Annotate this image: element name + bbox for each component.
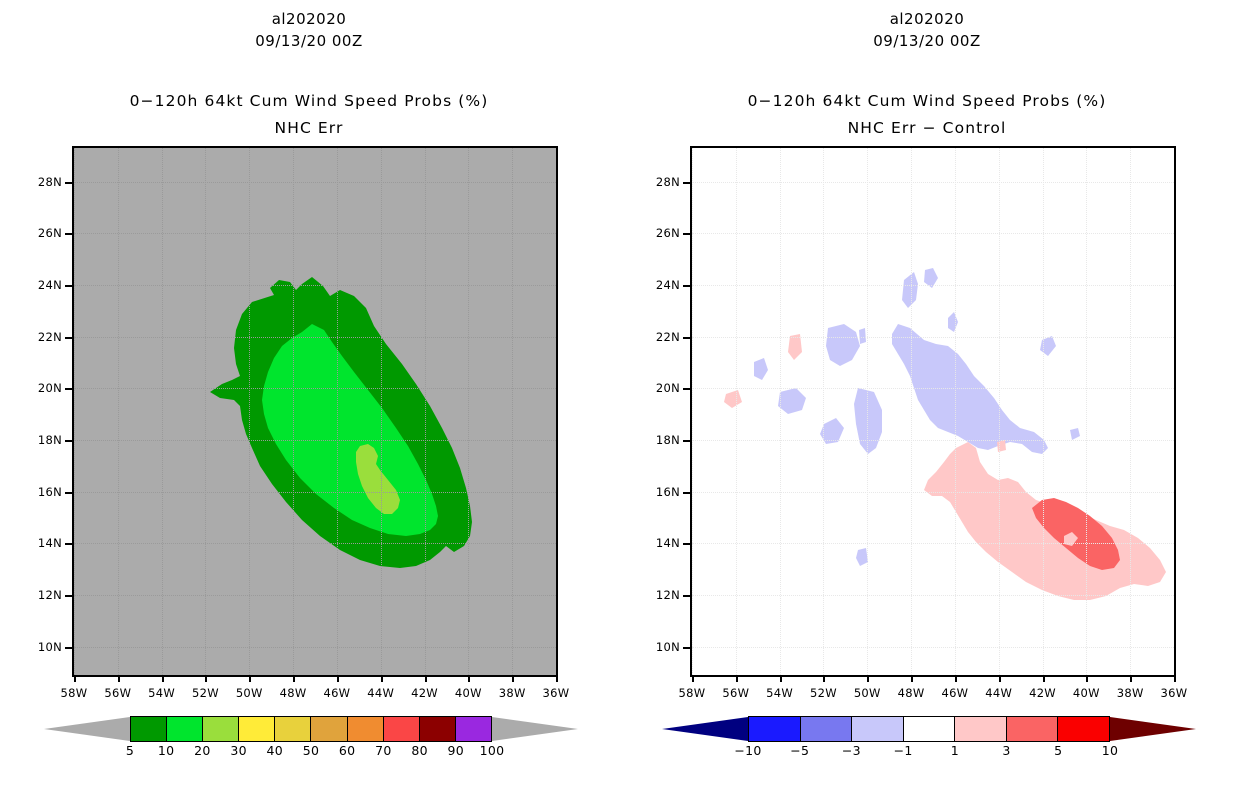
panel-storm-id: al202020 [0, 10, 618, 28]
xtick-label: 54W [766, 686, 793, 700]
gridline-horizontal [74, 492, 556, 493]
gridline-vertical [512, 148, 513, 675]
colorbar-tick-label: −5 [790, 743, 809, 758]
colorbar-swatch [749, 717, 801, 741]
colorbar-swatch [311, 717, 347, 741]
xtick-label: 56W [722, 686, 749, 700]
colorbar-swatch [852, 717, 904, 741]
xtick-label: 50W [236, 686, 263, 700]
colorbar-tick-label: 20 [194, 743, 211, 758]
gridline-vertical [468, 148, 469, 675]
colorbar-swatch [167, 717, 203, 741]
gridline-vertical [1130, 148, 1131, 675]
colorbar-tick-label: 10 [1102, 743, 1119, 758]
ytick-label: 12N [38, 588, 62, 602]
xtick-label: 52W [192, 686, 219, 700]
ytick-label: 22N [38, 330, 62, 344]
ytick-label: 20N [38, 381, 62, 395]
gridline-horizontal [74, 543, 556, 544]
panel-nhc-err: al202020 09/13/20 00Z 0−120h 64kt Cum Wi… [0, 0, 618, 800]
colorbar-swatches [748, 716, 1110, 742]
colorbar-swatch [1007, 717, 1059, 741]
colorbar-under-arrow-icon [44, 716, 130, 742]
panel-title: 0−120h 64kt Cum Wind Speed Probs (%) [0, 92, 618, 110]
gridline-vertical [692, 148, 693, 675]
colorbar-tick-label: 60 [339, 743, 356, 758]
gridline-vertical [381, 148, 382, 675]
gridline-horizontal [74, 285, 556, 286]
xtick-label: 38W [1117, 686, 1144, 700]
colorbar-under-arrow-icon [662, 716, 748, 742]
gridline-vertical [1086, 148, 1087, 675]
ytick-label: 16N [38, 485, 62, 499]
gridline-horizontal [74, 388, 556, 389]
colorbar-swatch [1058, 717, 1109, 741]
ytick-label: 14N [38, 536, 62, 550]
gridline-horizontal [74, 647, 556, 648]
gridline-horizontal [692, 337, 1174, 338]
colorbar-swatch [904, 717, 956, 741]
ytick-label: 22N [656, 330, 680, 344]
colorbar-tick-label: 90 [448, 743, 465, 758]
xtick-label: 44W [985, 686, 1012, 700]
colorbar-swatch [801, 717, 853, 741]
ytick-label: 14N [656, 536, 680, 550]
ytick-label: 24N [656, 278, 680, 292]
gridline-vertical [736, 148, 737, 675]
gridline-horizontal [74, 233, 556, 234]
xtick-label: 36W [1161, 686, 1188, 700]
gridline-vertical [293, 148, 294, 675]
xtick-label: 46W [941, 686, 968, 700]
ytick-label: 10N [656, 640, 680, 654]
gridline-vertical [867, 148, 868, 675]
xtick-label: 52W [810, 686, 837, 700]
xtick-label: 48W [898, 686, 925, 700]
ytick-label: 28N [656, 175, 680, 189]
colorbar-tick-label: −1 [894, 743, 913, 758]
xtick-label: 50W [854, 686, 881, 700]
ytick-label: 28N [38, 175, 62, 189]
colorbar-swatch [384, 717, 420, 741]
anomaly-contour-svg [692, 148, 1174, 675]
panel-subtitle: NHC Err − Control [618, 119, 1236, 137]
colorbar-tick-label: 100 [480, 743, 505, 758]
gridline-vertical [1043, 148, 1044, 675]
colorbar-swatch [348, 717, 384, 741]
map-axes-anomaly: 28N 26N 24N 22N 20N 18N 16N 14N 12N 10N … [690, 146, 1176, 677]
gridline-vertical [205, 148, 206, 675]
colorbar-tick-label: 50 [303, 743, 320, 758]
gridline-vertical [74, 148, 75, 675]
colorbar-probability: 5 10 20 30 40 50 60 70 80 90 100 [44, 716, 574, 762]
colorbar-tick-label: 30 [230, 743, 247, 758]
gridline-horizontal [74, 337, 556, 338]
colorbar-swatch [239, 717, 275, 741]
xtick-label: 54W [148, 686, 175, 700]
probability-contour-svg [74, 148, 556, 675]
gridline-vertical [249, 148, 250, 675]
panel-title: 0−120h 64kt Cum Wind Speed Probs (%) [618, 92, 1236, 110]
colorbar-swatches [130, 716, 492, 742]
gridline-vertical [118, 148, 119, 675]
gridline-horizontal [692, 388, 1174, 389]
gridline-horizontal [74, 440, 556, 441]
colorbar-over-arrow-icon [1110, 716, 1196, 742]
colorbar-tick-labels: 5 10 20 30 40 50 60 70 80 90 100 [130, 743, 492, 761]
map-axes-nhc-err: 28N 26N 24N 22N 20N 18N 16N 14N 12N 10N … [72, 146, 558, 677]
gridline-vertical [955, 148, 956, 675]
gridline-horizontal [74, 595, 556, 596]
gridline-horizontal [692, 492, 1174, 493]
xtick-label: 48W [280, 686, 307, 700]
gridline-horizontal [74, 182, 556, 183]
gridline-vertical [911, 148, 912, 675]
colorbar-tick-label: −10 [734, 743, 761, 758]
xtick-label: 40W [455, 686, 482, 700]
xtick-label: 42W [411, 686, 438, 700]
colorbar-tick-label: 5 [1054, 743, 1062, 758]
xtick-label: 58W [679, 686, 706, 700]
colorbar-tick-label: 5 [126, 743, 134, 758]
xtick-label: 40W [1073, 686, 1100, 700]
ytick-label: 20N [656, 381, 680, 395]
panel-datetime: 09/13/20 00Z [0, 32, 618, 50]
gridline-horizontal [692, 233, 1174, 234]
gridline-vertical [999, 148, 1000, 675]
gridline-horizontal [692, 440, 1174, 441]
xtick-label: 58W [61, 686, 88, 700]
gridline-horizontal [692, 647, 1174, 648]
ytick-label: 10N [38, 640, 62, 654]
ytick-label: 18N [38, 433, 62, 447]
panel-nhc-err-minus-control: al202020 09/13/20 00Z 0−120h 64kt Cum Wi… [618, 0, 1236, 800]
gridline-vertical [162, 148, 163, 675]
colorbar-swatch [203, 717, 239, 741]
xtick-label: 44W [367, 686, 394, 700]
gridline-vertical [823, 148, 824, 675]
panel-subtitle: NHC Err [0, 119, 618, 137]
ytick-label: 18N [656, 433, 680, 447]
gridline-horizontal [692, 543, 1174, 544]
panel-datetime: 09/13/20 00Z [618, 32, 1236, 50]
colorbar-tick-labels: −10 −5 −3 −1 1 3 5 10 [748, 743, 1110, 761]
colorbar-over-arrow-icon [492, 716, 578, 742]
colorbar-tick-label: 80 [411, 743, 428, 758]
colorbar-tick-label: 3 [1002, 743, 1010, 758]
colorbar-swatch [275, 717, 311, 741]
colorbar-swatch [456, 717, 491, 741]
colorbar-swatch [420, 717, 456, 741]
ytick-label: 12N [656, 588, 680, 602]
ytick-label: 24N [38, 278, 62, 292]
gridline-horizontal [692, 182, 1174, 183]
colorbar-tick-label: 70 [375, 743, 392, 758]
ytick-label: 26N [38, 226, 62, 240]
contour-plot-anomaly [692, 148, 1174, 675]
gridline-vertical [780, 148, 781, 675]
ytick-label: 26N [656, 226, 680, 240]
xtick-label: 56W [104, 686, 131, 700]
colorbar-swatch [131, 717, 167, 741]
xtick-label: 36W [543, 686, 570, 700]
colorbar-tick-label: −3 [842, 743, 861, 758]
colorbar-anomaly: −10 −5 −3 −1 1 3 5 10 [662, 716, 1192, 762]
gridline-vertical [337, 148, 338, 675]
contour-plot-probability [74, 148, 556, 675]
gridline-vertical [425, 148, 426, 675]
colorbar-tick-label: 10 [158, 743, 175, 758]
xtick-label: 42W [1029, 686, 1056, 700]
gridline-horizontal [692, 595, 1174, 596]
panel-storm-id: al202020 [618, 10, 1236, 28]
colorbar-tick-label: 1 [951, 743, 959, 758]
xtick-label: 46W [323, 686, 350, 700]
colorbar-swatch [955, 717, 1007, 741]
gridline-horizontal [692, 285, 1174, 286]
xtick-label: 38W [499, 686, 526, 700]
ytick-label: 16N [656, 485, 680, 499]
colorbar-tick-label: 40 [267, 743, 284, 758]
